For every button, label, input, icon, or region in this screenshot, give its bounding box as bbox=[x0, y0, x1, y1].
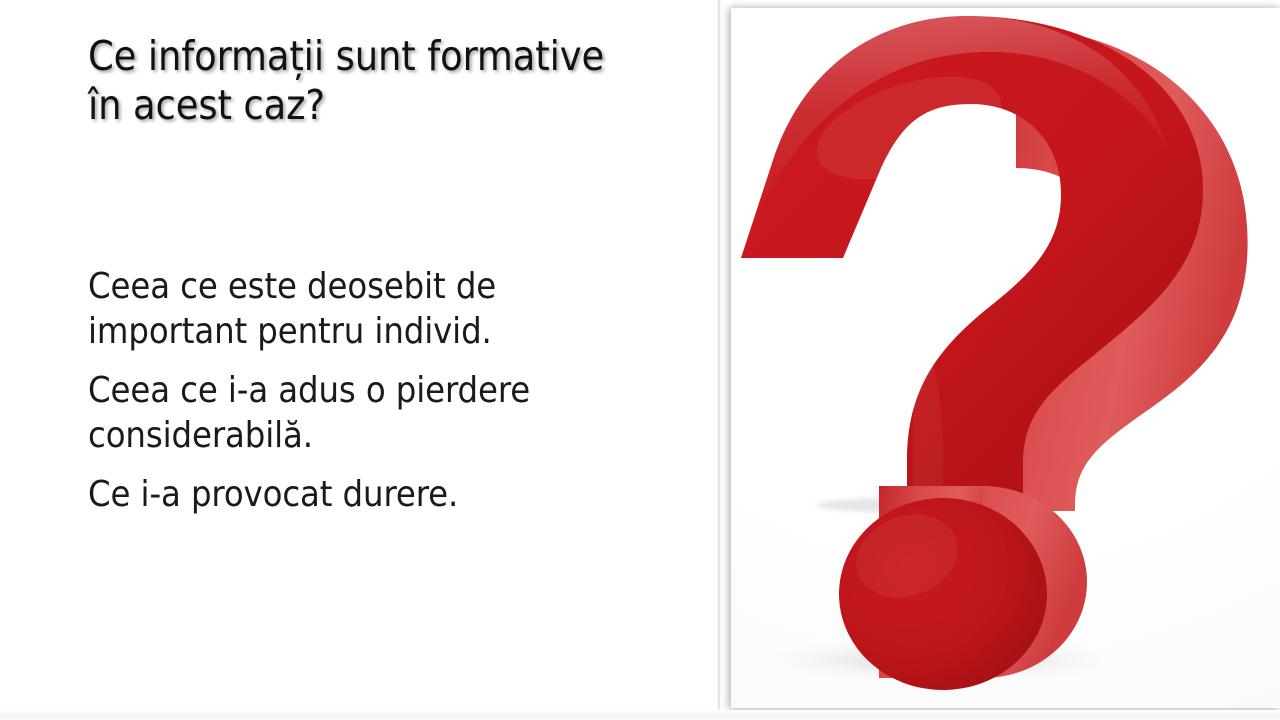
body-paragraph: Ce i-a provocat durere. bbox=[88, 472, 658, 517]
image-panel bbox=[731, 8, 1280, 708]
body-paragraph: Ceea ce i-a adus o pierdere considerabil… bbox=[88, 368, 658, 458]
body-text-block: Ceea ce este deosebit de important pentr… bbox=[88, 264, 658, 517]
slide-title: Ce informații sunt formative în acest ca… bbox=[88, 32, 648, 130]
slide-canvas: Ce informații sunt formative în acest ca… bbox=[0, 0, 1280, 720]
vertical-divider bbox=[717, 0, 721, 720]
question-mark-3d-icon bbox=[731, 8, 1280, 708]
text-column: Ce informații sunt formative în acest ca… bbox=[0, 0, 700, 720]
bottom-edge-strip bbox=[0, 710, 1280, 720]
body-paragraph: Ceea ce este deosebit de important pentr… bbox=[88, 264, 658, 354]
